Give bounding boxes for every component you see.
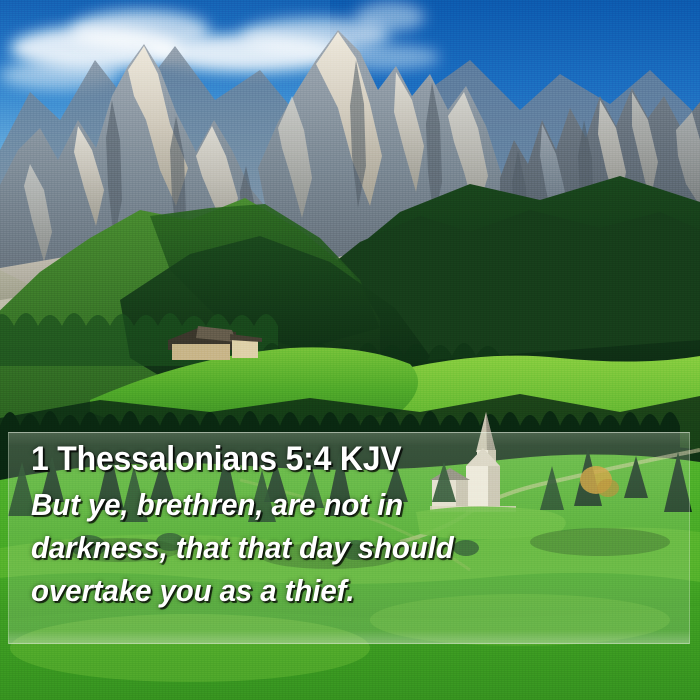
verse-text-line-3: overtake you as a thief. [31, 569, 656, 612]
verse-text-line-1: But ye, brethren, are not in [31, 483, 656, 526]
verse-overlay-panel: 1 Thessalonians 5:4 KJV But ye, brethren… [8, 432, 690, 644]
verse-text: But ye, brethren, are not in darkness, t… [31, 483, 689, 612]
verse-text-line-2: darkness, that that day should [31, 526, 656, 569]
verse-reference: 1 Thessalonians 5:4 KJV [31, 439, 650, 479]
verse-image-card: 1 Thessalonians 5:4 KJV But ye, brethren… [0, 0, 700, 700]
